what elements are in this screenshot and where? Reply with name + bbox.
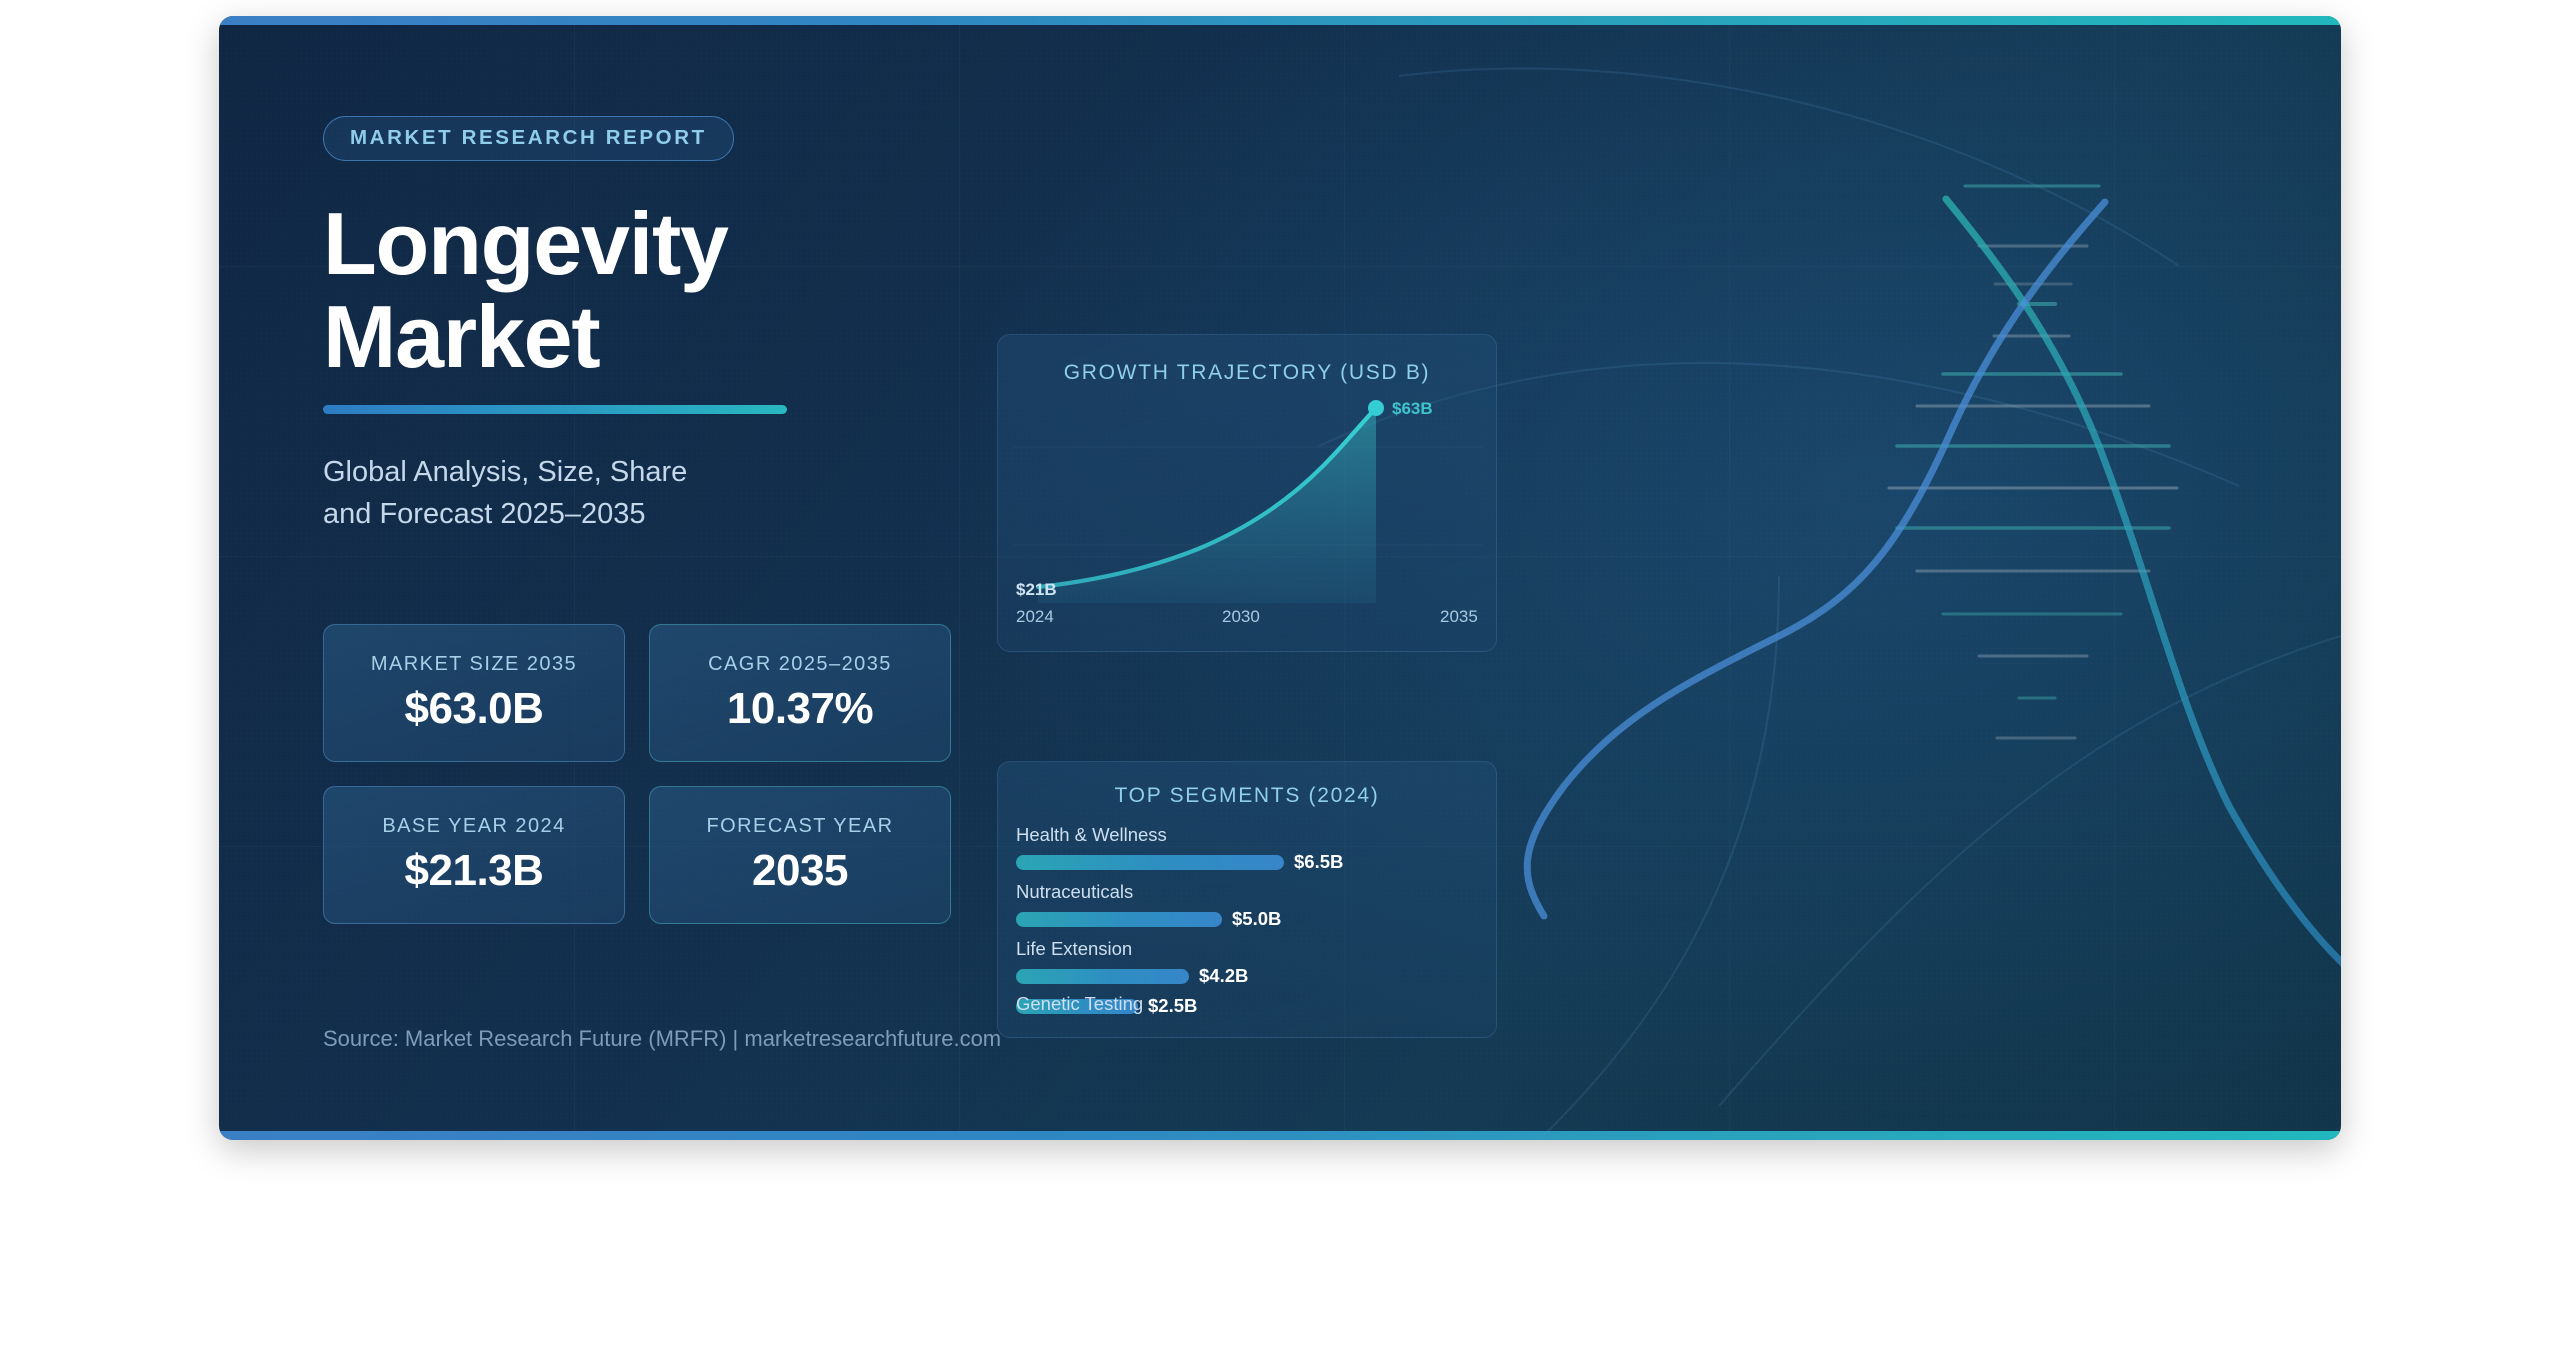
chart-xtick-2030: 2030 xyxy=(1222,607,1260,627)
page-title-line-1: Longevity xyxy=(323,197,963,290)
segment-row-nutraceuticals: Nutraceuticals $5.0B xyxy=(1016,881,1478,930)
title-underline-accent xyxy=(323,405,787,414)
top-accent-bar xyxy=(219,16,2341,25)
page-subtitle-line-1: Global Analysis, Size, Share xyxy=(323,451,963,494)
top-segments-panel: TOP SEGMENTS (2024) Health & Wellness $6… xyxy=(997,761,1497,1038)
stat-value: 10.37% xyxy=(727,684,873,734)
stat-value: $63.0B xyxy=(405,684,544,734)
growth-trajectory-panel: GROWTH TRAJECTORY (USD B) xyxy=(997,334,1497,652)
stat-value: 2035 xyxy=(752,846,848,896)
segment-bar-line: $6.5B xyxy=(1016,851,1478,873)
page-title-line-2: Market xyxy=(323,290,963,383)
report-canvas: MARKET RESEARCH REPORT Longevity Market … xyxy=(219,16,2341,1140)
segment-label: Genetic Testing xyxy=(1016,993,1143,1015)
report-type-badge: MARKET RESEARCH REPORT xyxy=(323,116,734,161)
bottom-accent-bar xyxy=(219,1131,2341,1140)
segment-value: $6.5B xyxy=(1294,851,1343,873)
segment-label: Health & Wellness xyxy=(1016,824,1478,846)
stat-label: CAGR 2025–2035 xyxy=(708,653,892,676)
stat-label: BASE YEAR 2024 xyxy=(382,815,565,838)
segment-row-health-wellness: Health & Wellness $6.5B xyxy=(1016,824,1478,873)
chart-area-fill xyxy=(1038,408,1376,603)
chart-start-label: $21B xyxy=(1016,580,1057,600)
segment-row-life-extension: Life Extension $4.2B xyxy=(1016,938,1478,987)
chart-endpoint-marker xyxy=(1368,400,1384,416)
growth-trajectory-chart xyxy=(998,335,1498,653)
segment-bar xyxy=(1016,855,1284,870)
page-title: Longevity Market xyxy=(323,197,963,384)
chart-xtick-2035: 2035 xyxy=(1440,607,1478,627)
page-subtitle-line-2: and Forecast 2025–2035 xyxy=(323,493,963,536)
screenshot-root: MARKET RESEARCH REPORT Longevity Market … xyxy=(0,0,2560,1365)
segment-bar-line: $4.2B xyxy=(1016,965,1478,987)
source-attribution: Source: Market Research Future (MRFR) | … xyxy=(323,1026,1001,1052)
segment-label: Life Extension xyxy=(1016,938,1478,960)
stat-label: MARKET SIZE 2035 xyxy=(371,653,577,676)
stat-value: $21.3B xyxy=(405,846,544,896)
segment-value: $4.2B xyxy=(1199,965,1248,987)
stat-label: FORECAST YEAR xyxy=(706,815,893,838)
chart-endpoint-label: $63B xyxy=(1392,399,1433,419)
segment-bar-line: $5.0B xyxy=(1016,908,1478,930)
stat-card-forecast-year: FORECAST YEAR 2035 xyxy=(649,786,951,924)
page-subtitle: Global Analysis, Size, Share and Forecas… xyxy=(323,451,963,537)
stat-card-market-size: MARKET SIZE 2035 $63.0B xyxy=(323,624,625,762)
segment-bar xyxy=(1016,969,1189,984)
chart-xtick-2024: 2024 xyxy=(1016,607,1054,627)
stat-card-base-year: BASE YEAR 2024 $21.3B xyxy=(323,786,625,924)
segment-value: $2.5B xyxy=(1148,995,1197,1017)
segments-title: TOP SEGMENTS (2024) xyxy=(998,784,1496,808)
stat-card-grid: MARKET SIZE 2035 $63.0B CAGR 2025–2035 1… xyxy=(323,624,951,924)
segment-label: Nutraceuticals xyxy=(1016,881,1478,903)
segment-bar xyxy=(1016,912,1222,927)
segment-value: $5.0B xyxy=(1232,908,1281,930)
segment-list: Health & Wellness $6.5B Nutraceuticals $… xyxy=(1016,824,1478,1025)
stat-card-cagr: CAGR 2025–2035 10.37% xyxy=(649,624,951,762)
segment-row-genetic-testing: $2.5B Genetic Testing xyxy=(1016,995,1478,1017)
hero-block: MARKET RESEARCH REPORT Longevity Market … xyxy=(323,116,963,536)
